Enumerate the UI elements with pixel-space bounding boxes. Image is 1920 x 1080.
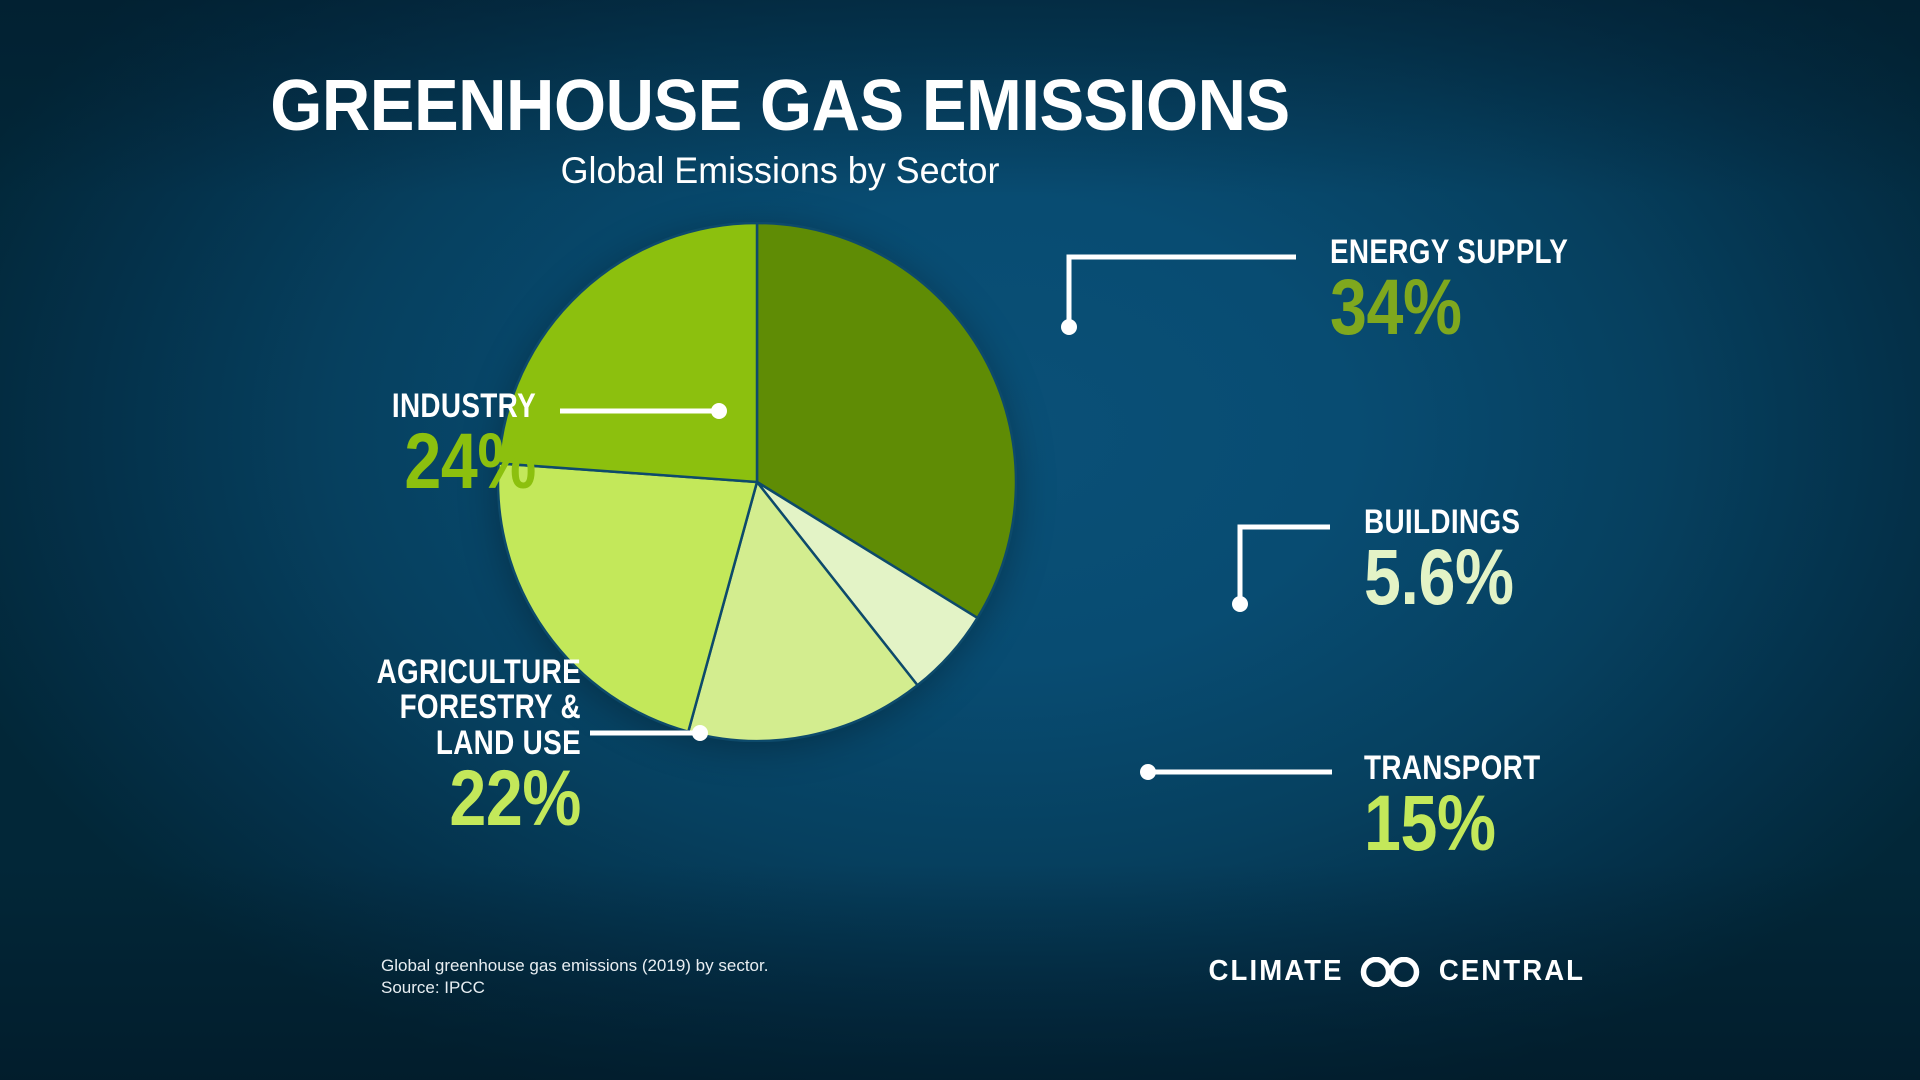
source-line-2: Source: IPCC [381,977,768,999]
callout-agriculture: AGRICULTURE FORESTRY & LAND USE 22% [271,655,581,835]
logo-text-climate: CLIMATE [1209,955,1344,988]
callout-buildings: BUILDINGS 5.6% [1364,505,1555,614]
source-note: Global greenhouse gas emissions (2019) b… [381,955,768,1000]
callout-industry: INDUSTRY 24% [241,389,536,498]
callout-label-agriculture-line2: FORESTRY & [327,690,581,725]
callout-value-industry: 24% [288,425,536,498]
header: GREENHOUSE GAS EMISSIONS Global Emission… [0,70,1560,189]
callout-value-transport: 15% [1364,787,1545,860]
interlocking-circles-icon [1360,957,1422,987]
callout-energy-supply: ENERGY SUPPLY 34% [1330,235,1621,344]
pie-slice-industry [499,223,757,482]
climate-central-logo: CLIMATE CENTRAL [1205,955,1589,988]
page-subtitle: Global Emissions by Sector [23,152,1536,189]
leader-energy-supply [1061,257,1296,335]
callout-label-agriculture-line1: AGRICULTURE [327,655,581,690]
leader-buildings [1232,527,1330,612]
source-line-1: Global greenhouse gas emissions (2019) b… [381,955,768,977]
logo-text-central: CENTRAL [1439,955,1585,988]
callout-value-buildings: 5.6% [1364,541,1524,614]
callout-value-energy-supply: 34% [1330,271,1574,344]
leader-transport [1140,764,1332,780]
callout-value-agriculture: 22% [321,762,581,835]
page-title: GREENHOUSE GAS EMISSIONS [55,70,1506,142]
infographic-canvas: GREENHOUSE GAS EMISSIONS Global Emission… [0,0,1920,1080]
callout-transport: TRANSPORT 15% [1364,751,1579,860]
